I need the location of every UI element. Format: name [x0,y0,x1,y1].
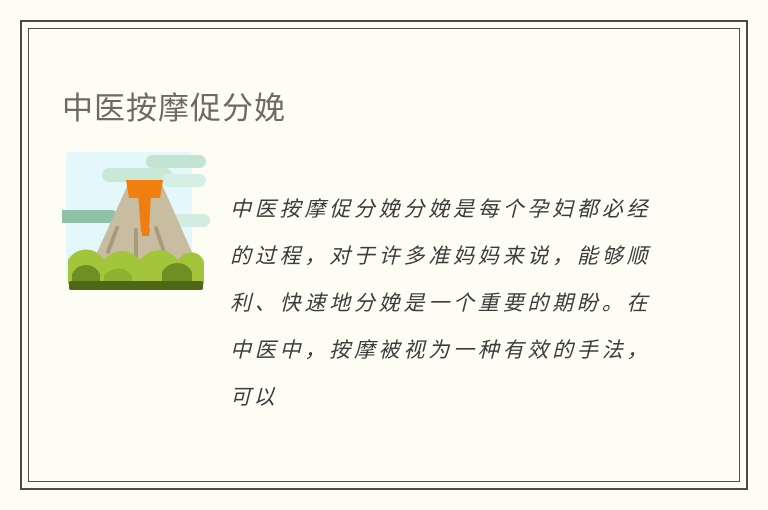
page-title: 中医按摩促分娩 [62,89,286,129]
article-body-text: 中医按摩促分娩分娩是每个孕妇都必经的过程，对于许多准妈妈来说，能够顺利、快速地分… [230,186,650,421]
volcano-illustration [62,150,210,298]
article-content: 中医按摩促分娩 [0,0,768,510]
article-page: 中医按摩促分娩 [0,0,768,510]
